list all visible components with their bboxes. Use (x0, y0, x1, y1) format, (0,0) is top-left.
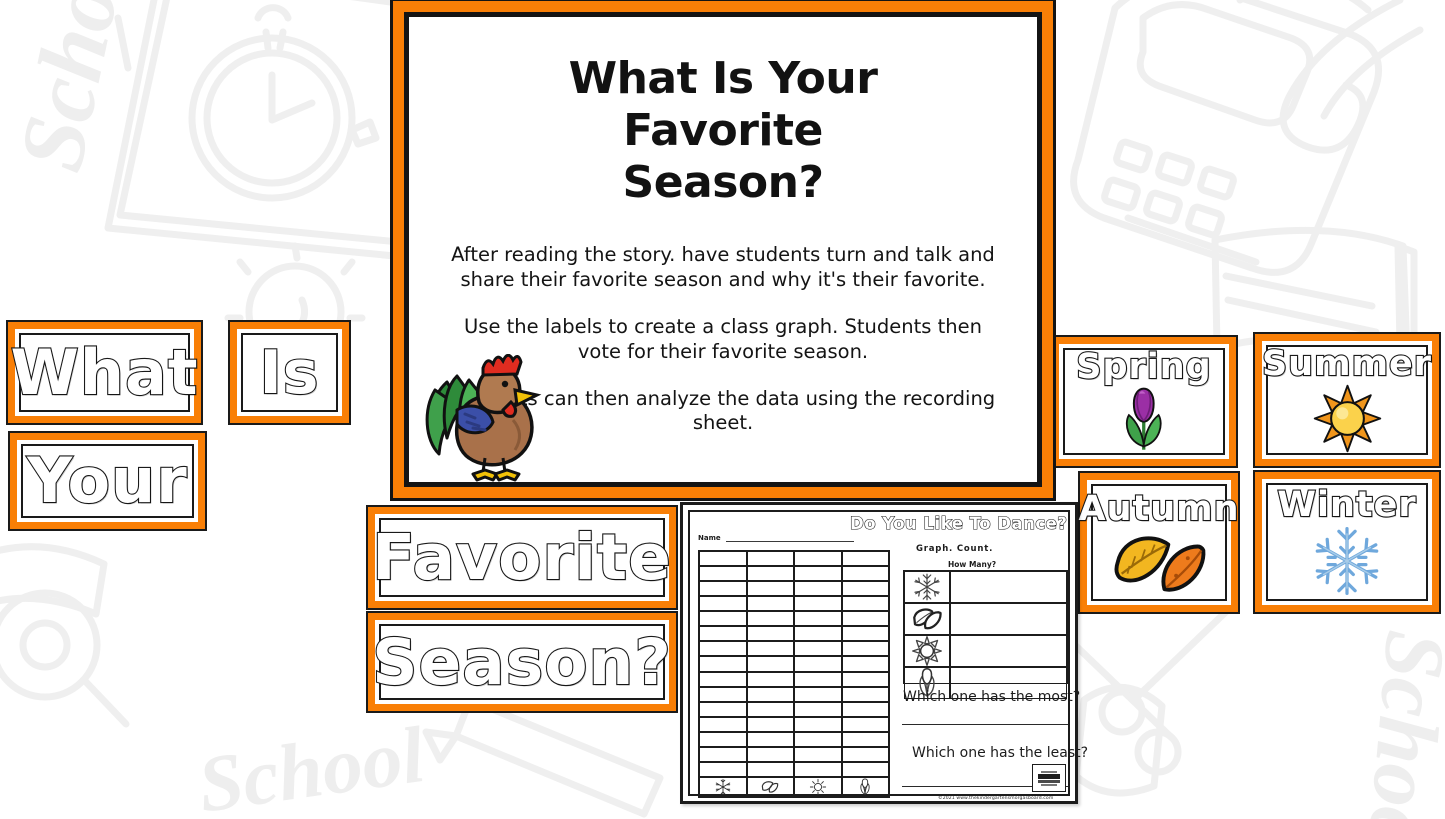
card-inner: Favorite (375, 514, 669, 601)
grid-cell[interactable] (842, 551, 890, 566)
grid-cell[interactable] (699, 641, 747, 656)
grid-cell[interactable] (747, 581, 795, 596)
grid-cell[interactable] (794, 656, 842, 671)
word-card-favorite[interactable]: Favorite (366, 505, 678, 610)
season-card-label: Spring (1076, 350, 1212, 385)
card-inner: Is (237, 329, 342, 416)
grid-cell[interactable] (794, 762, 842, 777)
bg-doodle-stopwatch (192, 8, 376, 198)
logo-line (1038, 780, 1060, 783)
grid-cell[interactable] (794, 596, 842, 611)
word-card-label: Is (259, 343, 319, 403)
grid-cell[interactable] (699, 702, 747, 717)
grid-cell[interactable] (842, 626, 890, 641)
grid-cell[interactable] (699, 626, 747, 641)
card-core: Winter (1266, 483, 1428, 601)
grid-cell[interactable] (699, 551, 747, 566)
grid-cell[interactable] (747, 717, 795, 732)
rooster-icon (417, 354, 557, 486)
title-line-2: Favorite (433, 105, 1013, 157)
title-line-1: What Is Your (433, 53, 1013, 105)
season-card-winter[interactable]: Winter (1253, 470, 1441, 614)
grid-cell[interactable] (699, 596, 747, 611)
grid-cell[interactable] (842, 566, 890, 581)
grid-cell[interactable] (842, 687, 890, 702)
grid-cell[interactable] (794, 747, 842, 762)
tally-row-count-sun[interactable] (950, 635, 1067, 667)
sun-icon (1313, 384, 1382, 453)
grid-cell[interactable] (747, 762, 795, 777)
grid-cell[interactable] (699, 581, 747, 596)
grid-cell[interactable] (747, 641, 795, 656)
word-card-your[interactable]: Your (8, 431, 207, 531)
card-inner: Spring (1059, 344, 1229, 459)
grid-cell[interactable] (699, 732, 747, 747)
recording-sheet-worksheet[interactable]: Do You Like To Dance? Name (680, 502, 1078, 804)
grid-cell[interactable] (794, 717, 842, 732)
grid-cell[interactable] (747, 687, 795, 702)
grid-cell[interactable] (747, 672, 795, 687)
grid-cell[interactable] (794, 732, 842, 747)
card-inner: Season? (375, 620, 669, 704)
grid-cell[interactable] (842, 656, 890, 671)
title-line-3: Season? (433, 157, 1013, 209)
graph-grid[interactable] (698, 550, 890, 798)
grid-cell[interactable] (699, 717, 747, 732)
worksheet-subhead: Graph. Count. (916, 544, 993, 554)
grid-cell[interactable] (842, 732, 890, 747)
leaves-icon (1110, 529, 1207, 599)
snowflake-icon (1311, 525, 1383, 597)
word-card-label: Season? (372, 631, 672, 694)
grid-column-icon-sun (794, 777, 842, 797)
grid-cell[interactable] (747, 626, 795, 641)
card-inner: Summer (1262, 341, 1432, 459)
grid-cell[interactable] (842, 596, 890, 611)
grid-cell[interactable] (842, 672, 890, 687)
logo-line (1041, 784, 1058, 786)
tally-row-icon-leaves (904, 603, 950, 635)
grid-cell[interactable] (747, 656, 795, 671)
bg-doodle-apple (1076, 687, 1162, 793)
worksheet-inner: Do You Like To Dance? Name (688, 510, 1070, 796)
worksheet-credit: ©2021 www.thekindergartensmorgasboard.co… (938, 796, 1053, 801)
grid-cell[interactable] (699, 747, 747, 762)
how-many-label: How Many? (948, 560, 996, 569)
grid-cell[interactable] (747, 596, 795, 611)
main-instruction-card[interactable]: What Is Your Favorite Season? After read… (390, 0, 1056, 501)
season-card-label: Winter (1277, 488, 1416, 523)
page-title: What Is Your Favorite Season? (433, 53, 1013, 209)
grid-cell[interactable] (699, 762, 747, 777)
card-core: What (19, 333, 190, 412)
season-card-autumn[interactable]: Autumn (1078, 471, 1240, 614)
tally-row-icon-sun (904, 635, 950, 667)
card-core: Season? (379, 624, 665, 700)
grid-cell[interactable] (842, 717, 890, 732)
word-card-label: Favorite (372, 526, 672, 589)
grid-cell[interactable] (747, 747, 795, 762)
card-core: Your (21, 444, 194, 518)
bg-word-school-3: School (193, 711, 431, 819)
word-card-label: What (11, 342, 199, 404)
name-field-row[interactable]: Name (698, 534, 854, 542)
grid-cell[interactable] (699, 672, 747, 687)
grid-cell[interactable] (842, 762, 890, 777)
grid-column-icon-snowflake (699, 777, 747, 797)
grid-cell[interactable] (794, 702, 842, 717)
card-inner: Autumn (1087, 480, 1231, 605)
grid-cell[interactable] (842, 641, 890, 656)
bg-doodle-paperclip (1283, 0, 1420, 150)
grid-column-icon-tulip (842, 777, 890, 797)
card-core: Favorite (379, 518, 665, 597)
grid-cell[interactable] (794, 566, 842, 581)
season-card-label: Summer (1262, 347, 1432, 382)
grid-cell[interactable] (794, 687, 842, 702)
tally-row-count-snowflake[interactable] (950, 571, 1067, 603)
grid-cell[interactable] (699, 687, 747, 702)
grid-cell[interactable] (699, 611, 747, 626)
grid-cell[interactable] (747, 566, 795, 581)
question-most: Which one has the most? (903, 689, 1080, 705)
grid-cell[interactable] (747, 551, 795, 566)
grid-cell[interactable] (794, 641, 842, 656)
grid-cell[interactable] (842, 581, 890, 596)
card-inner: Your (17, 440, 198, 522)
name-label: Name (698, 534, 721, 542)
tally-row-icon-snowflake (904, 571, 950, 603)
grid-cell[interactable] (794, 626, 842, 641)
grid-cell[interactable] (794, 581, 842, 596)
instruction-paragraph-1: After reading the story. have students t… (433, 243, 1013, 293)
grid-cell[interactable] (842, 611, 890, 626)
logo-line (1041, 771, 1058, 773)
logo-line (1038, 774, 1060, 779)
name-input-line[interactable] (726, 535, 854, 542)
grid-cell[interactable] (699, 656, 747, 671)
tally-table[interactable] (903, 570, 1068, 684)
main-card-inner: What Is Your Favorite Season? After read… (404, 12, 1042, 487)
grid-cell[interactable] (747, 732, 795, 747)
bg-doodle-magnifier (0, 593, 126, 724)
answer-line-most[interactable] (902, 724, 1068, 725)
word-card-what[interactable]: What (6, 320, 203, 425)
card-inner: What (15, 329, 194, 416)
grid-cell[interactable] (699, 566, 747, 581)
grid-column-icon-leaves (747, 777, 795, 797)
season-card-label: Autumn (1078, 492, 1239, 527)
card-core: Is (241, 333, 338, 412)
card-inner: Winter (1262, 479, 1432, 605)
card-core: Autumn (1091, 484, 1227, 601)
worksheet-title: Do You Like To Dance? (850, 514, 1067, 533)
grid-cell[interactable] (794, 551, 842, 566)
grid-cell[interactable] (842, 747, 890, 762)
grid-cell[interactable] (747, 702, 795, 717)
bg-word-school: School (0, 0, 153, 179)
question-least: Which one has the least? (912, 745, 1088, 761)
word-card-label: Your (27, 450, 188, 512)
bg-word-school-2: School (1348, 627, 1445, 819)
grid-cell[interactable] (794, 672, 842, 687)
word-card-is[interactable]: Is (228, 320, 351, 425)
bg-doodle-pencil (426, 700, 660, 814)
tulip-icon (1119, 387, 1169, 453)
tally-row-count-leaves[interactable] (950, 603, 1067, 635)
kindergarten-smorgasboard-logo (1032, 764, 1066, 792)
grid-cell[interactable] (842, 702, 890, 717)
word-card-season[interactable]: Season? (366, 611, 678, 713)
grid-cell[interactable] (794, 611, 842, 626)
season-card-spring[interactable]: Spring (1050, 335, 1238, 468)
card-core: Spring (1063, 348, 1225, 455)
grid-cell[interactable] (747, 611, 795, 626)
card-core: Summer (1266, 345, 1428, 455)
season-card-summer[interactable]: Summer (1253, 332, 1441, 468)
